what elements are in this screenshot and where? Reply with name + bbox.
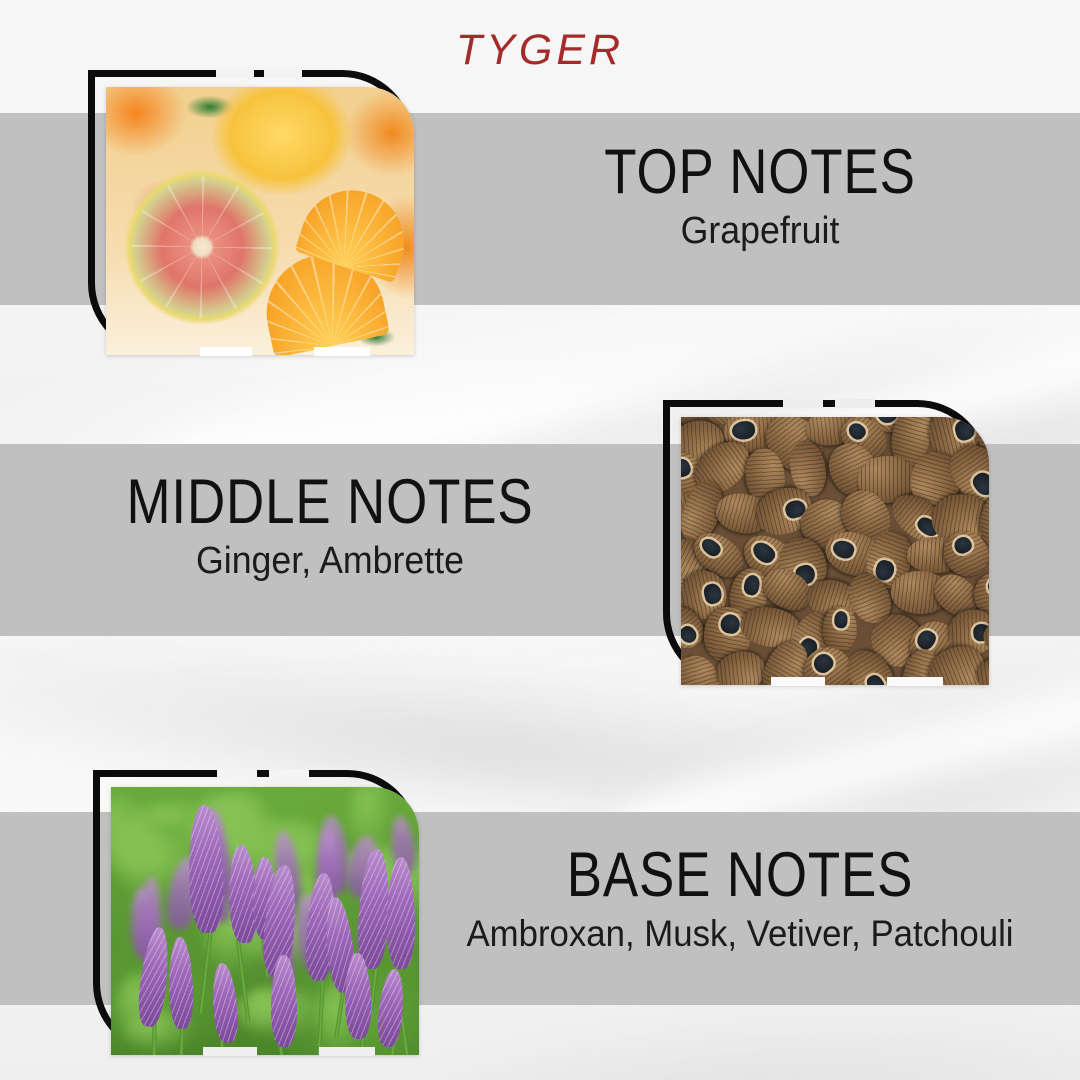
seed-hilum	[834, 611, 849, 628]
seed-hilum	[831, 538, 857, 561]
photo-image-base	[111, 787, 419, 1055]
seed-hilum	[742, 574, 760, 596]
note-group-top: TOP NOTES Grapefruit	[440, 140, 1080, 252]
purple-flower-spikes-photo	[93, 770, 419, 1055]
seed-hilum	[810, 650, 836, 676]
seed-hilum	[681, 456, 692, 478]
middle-notes-heading: MIDDLE NOTES	[53, 470, 607, 534]
seed-hilum	[731, 420, 756, 441]
fragrance-notes-infographic: TYGER	[0, 0, 1080, 1080]
seed-hilum	[703, 583, 723, 606]
ambrette-seeds-photo	[663, 400, 989, 685]
seed-hilum	[969, 469, 989, 498]
seed-hilum	[865, 672, 889, 685]
seed-hilum	[951, 534, 974, 557]
seed-hilum	[699, 536, 723, 559]
brand-title: TYGER	[0, 26, 1080, 75]
seed-hilum	[954, 419, 977, 443]
photo-image-middle	[681, 417, 989, 685]
base-notes-heading: BASE NOTES	[454, 843, 1025, 907]
seed-hilum	[845, 419, 868, 442]
base-notes-ingredients: Ambroxan, Musk, Vetiver, Patchouli	[420, 915, 1059, 954]
grapefruit-citrus-photo	[88, 70, 414, 355]
seed-hilum	[681, 623, 699, 645]
note-group-middle: MIDDLE NOTES Ginger, Ambrette	[0, 470, 660, 582]
flower-spike	[168, 937, 194, 1030]
note-group-base: BASE NOTES Ambroxan, Musk, Vetiver, Patc…	[400, 843, 1080, 954]
photo-image-top	[106, 87, 414, 355]
flower-spike	[210, 962, 240, 1044]
seed-hilum	[915, 627, 939, 652]
seed-hilum	[986, 575, 989, 597]
top-notes-ingredients: Grapefruit	[459, 212, 1061, 252]
seed-hilum	[750, 539, 778, 566]
top-notes-heading: TOP NOTES	[491, 140, 1029, 204]
middle-notes-ingredients: Ginger, Ambrette	[20, 542, 640, 582]
seed-hilum	[719, 612, 741, 635]
